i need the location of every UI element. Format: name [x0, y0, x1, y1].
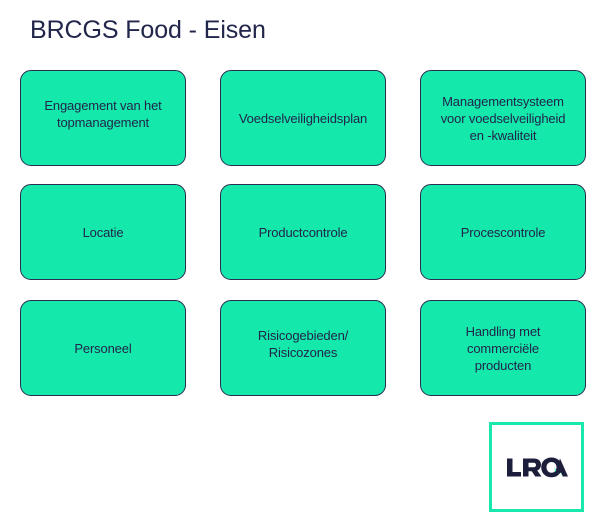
slide-canvas: BRCGS Food - Eisen Engagement van het to… — [0, 0, 605, 529]
node-productcontrole[interactable]: Productcontrole — [220, 184, 386, 280]
node-engagement-topmanagement[interactable]: Engagement van het topmanagement — [20, 70, 186, 166]
requirements-grid: Engagement van het topmanagement Voedsel… — [20, 70, 588, 397]
node-label: Managementsysteem voor voedselveiligheid… — [441, 93, 566, 144]
node-label: Productcontrole — [259, 224, 348, 241]
node-personeel[interactable]: Personeel — [20, 300, 186, 396]
node-label: Personeel — [74, 340, 131, 357]
node-locatie[interactable]: Locatie — [20, 184, 186, 280]
node-label: Handling met commerciële producten — [466, 323, 541, 374]
node-label: Voedselveiligheidsplan — [239, 110, 367, 127]
node-voedselveiligheidsplan[interactable]: Voedselveiligheidsplan — [220, 70, 386, 166]
node-label: Risicogebieden/ Risicozones — [258, 327, 348, 361]
lrqa-logo — [489, 422, 584, 512]
node-procescontrole[interactable]: Procescontrole — [420, 184, 586, 280]
lrqa-wordmark-icon — [506, 455, 568, 479]
page-title: BRCGS Food - Eisen — [30, 16, 266, 45]
node-label: Procescontrole — [461, 224, 546, 241]
node-handling-commerciele-producten[interactable]: Handling met commerciële producten — [420, 300, 586, 396]
node-risicogebieden-risicozones[interactable]: Risicogebieden/ Risicozones — [220, 300, 386, 396]
node-label: Engagement van het topmanagement — [44, 97, 161, 131]
node-managementsysteem[interactable]: Managementsysteem voor voedselveiligheid… — [420, 70, 586, 166]
node-label: Locatie — [83, 224, 124, 241]
